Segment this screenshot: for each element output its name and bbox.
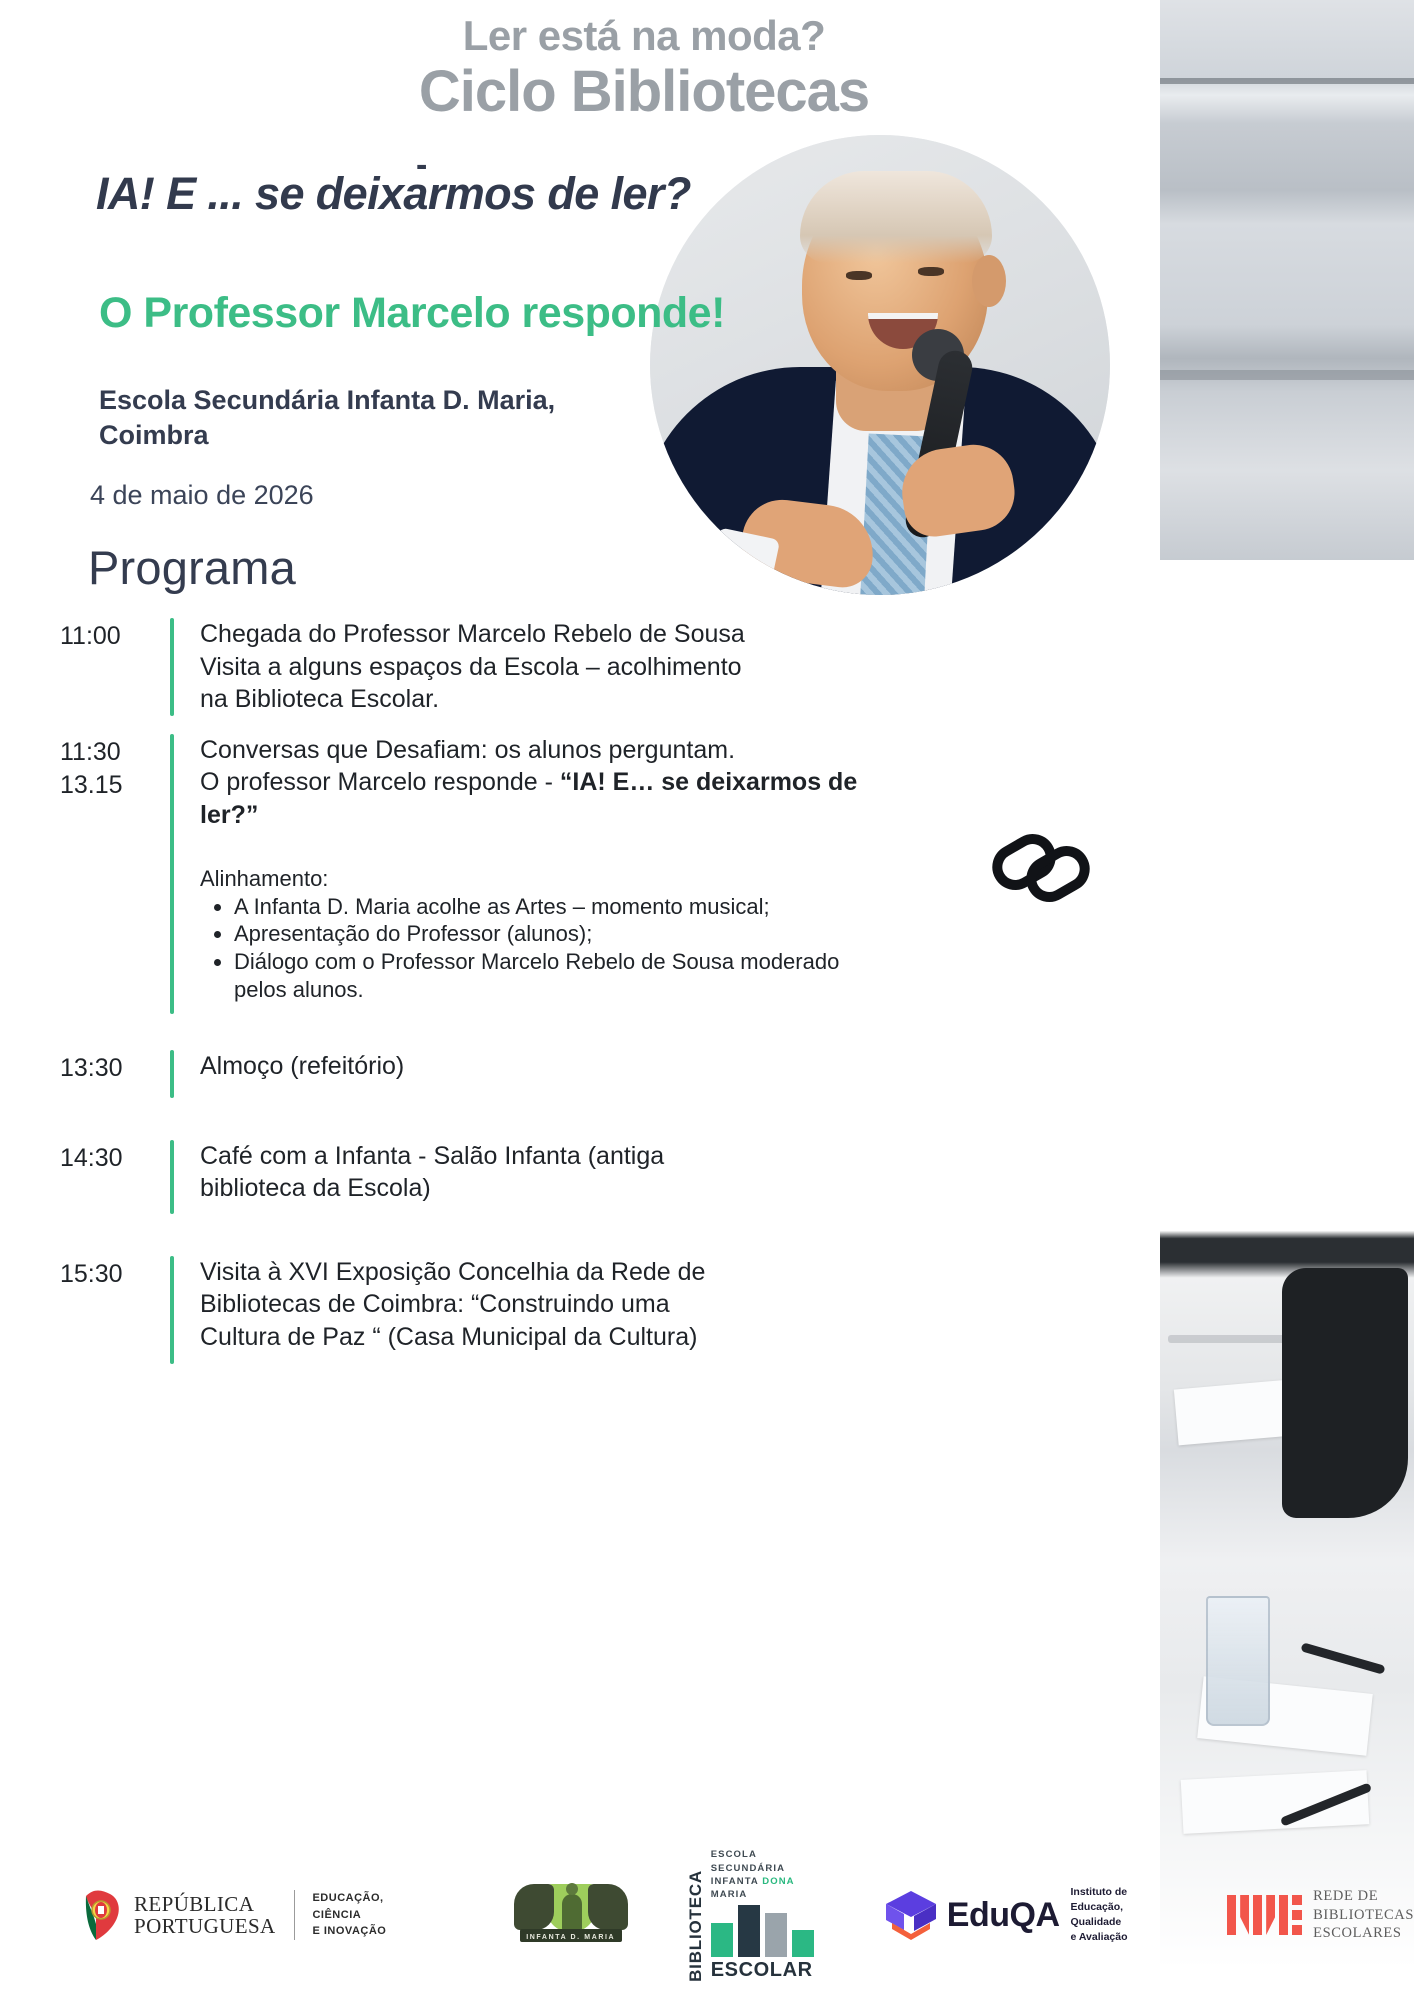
portugal-flag-icon	[84, 1888, 122, 1942]
schedule-time: 13:30	[60, 1050, 170, 1085]
crest-dragon-right	[588, 1884, 628, 1930]
rbe-line-1: REDE DE	[1313, 1887, 1414, 1906]
rbe-mark-icon	[1227, 1895, 1302, 1935]
program-schedule: 11:00 Chegada do Professor Marcelo Rebel…	[60, 618, 890, 1382]
biblioteca-logo-body: ESCOLA SECUNDÁRIA INFANTA DONA MARIA ESC…	[711, 1848, 828, 1981]
rbe-bar	[1253, 1895, 1262, 1935]
venue-line-1: Escola Secundária Infanta D. Maria,	[99, 383, 639, 418]
rbe-line-2: BIBLIOTECAS	[1313, 1906, 1414, 1925]
biblioteca-vertical-word: BIBLIOTECA	[686, 1868, 706, 1982]
eduqa-wordmark: EduQA	[947, 1896, 1060, 1935]
schedule-description: Visita à XVI Exposição Concelhia da Rede…	[200, 1256, 890, 1354]
schedule-line: na Biblioteca Escolar.	[200, 683, 890, 716]
page-title: IA! E ... se deixarmos de ler?	[96, 168, 691, 220]
schedule-description: Almoço (refeitório)	[200, 1050, 890, 1083]
footer-logos: REPÚBLICA PORTUGUESA EDUCAÇÃO, CIÊNCIA E…	[0, 1845, 1414, 1985]
schedule-time: 11:30 13.15	[60, 734, 170, 802]
ministry-line-2: E INOVAÇÃO	[312, 1923, 419, 1940]
rbe-square	[1292, 1925, 1302, 1935]
schedule-row: 11:00 Chegada do Professor Marcelo Rebel…	[60, 618, 890, 716]
schedule-line: Almoço (refeitório)	[200, 1050, 890, 1083]
logo-school-crest: INFANTA D. MARIA	[512, 1880, 630, 1950]
eduqa-tag-line-1: Instituto de	[1071, 1885, 1164, 1900]
list-item: A Infanta D. Maria acolhe as Artes – mom…	[234, 893, 890, 921]
water-glass	[1206, 1596, 1270, 1726]
schedule-line: biblioteca da Escola)	[200, 1172, 890, 1205]
schedule-time: 14:30	[60, 1140, 170, 1175]
portrait-cuff	[706, 527, 780, 595]
portrait-eye	[846, 271, 872, 280]
schedule-time-end: 13.15	[60, 769, 170, 802]
portrait-eye	[918, 267, 944, 276]
rbe-bar	[1266, 1895, 1275, 1935]
list-item: Diálogo com o Professor Marcelo Rebelo d…	[234, 948, 890, 1003]
program-heading: Programa	[88, 540, 296, 595]
schedule-time: 11:00	[60, 618, 170, 653]
venue-line-2: Coimbra	[99, 418, 639, 453]
schedule-divider	[170, 1050, 174, 1098]
logo-republica-portuguesa: REPÚBLICA PORTUGUESA EDUCAÇÃO, CIÊNCIA E…	[84, 1888, 420, 1942]
republica-line-2: PORTUGUESA	[134, 1915, 276, 1937]
schedule-line-with-emphasis: O professor Marcelo responde - “IA! E… s…	[200, 766, 890, 831]
schedule-description: Café com a Infanta - Salão Infanta (anti…	[200, 1140, 890, 1205]
name-part-3: MARIA	[711, 1889, 748, 1900]
logo-divider	[294, 1890, 295, 1940]
schedule-time: 15:30	[60, 1256, 170, 1291]
schedule-line: Visita à XVI Exposição Concelhia da Rede…	[200, 1256, 890, 1289]
crest-label: INFANTA D. MARIA	[512, 1934, 630, 1941]
biblioteca-name-line-2: INFANTA DONA MARIA	[711, 1875, 828, 1902]
name-part-dona: DONA	[762, 1876, 794, 1887]
speaker-portrait	[650, 135, 1110, 595]
schedule-line: Visita a alguns espaços da Escola – acol…	[200, 651, 890, 684]
republica-wordmark: REPÚBLICA PORTUGUESA	[134, 1893, 276, 1938]
crest-dragon-left	[514, 1884, 554, 1930]
school-crest-icon: INFANTA D. MARIA	[512, 1880, 630, 1950]
poster-canvas: Ler está na moda? Ciclo Bibliotecas - IA…	[0, 0, 1414, 2000]
venue-block: Escola Secundária Infanta D. Maria, Coim…	[99, 383, 639, 452]
eduqa-tagline: Instituto de Educação, Qualidade e Avali…	[1071, 1885, 1164, 1946]
alinhamento-list: A Infanta D. Maria acolhe as Artes – mom…	[200, 893, 890, 1004]
portrait-hair	[800, 171, 992, 263]
bar-4	[792, 1930, 814, 1957]
logo-rede-bibliotecas-escolares: REDE DE BIBLIOTECAS ESCOLARES	[1227, 1887, 1414, 1943]
schedule-divider	[170, 618, 174, 716]
right-photo-band	[1160, 0, 1414, 2000]
logo-biblioteca-escolar: BIBLIOTECA ESCOLA SECUNDÁRIA INFANTA DON…	[686, 1848, 828, 1981]
name-part-1: INFANTA	[711, 1876, 763, 1887]
bar-2	[738, 1905, 760, 1957]
rbe-square	[1292, 1910, 1302, 1920]
schedule-line-prefix: O professor Marcelo responde -	[200, 768, 560, 796]
rbe-squares	[1292, 1895, 1302, 1935]
schedule-row: 15:30 Visita à XVI Exposição Concelhia d…	[60, 1256, 890, 1364]
schedule-line: Conversas que Desafiam: os alunos pergun…	[200, 734, 890, 767]
rbe-line-3: ESCOLARES	[1313, 1924, 1414, 1943]
event-date: 4 de maio de 2026	[90, 480, 314, 511]
schedule-divider	[170, 734, 174, 1014]
rbe-bar	[1240, 1895, 1249, 1935]
schedule-line: Chegada do Professor Marcelo Rebelo de S…	[200, 618, 890, 651]
schedule-divider	[170, 1140, 174, 1214]
schedule-row: 11:30 13.15 Conversas que Desafiam: os a…	[60, 734, 890, 1014]
republica-line-1: REPÚBLICA	[134, 1893, 276, 1915]
list-item: Apresentação do Professor (alunos);	[234, 920, 890, 948]
eduqa-tag-line-3: e Avaliação	[1071, 1930, 1164, 1945]
photo-gap	[1160, 560, 1414, 1220]
schedule-time-start: 11:30	[60, 736, 170, 769]
schedule-row: 14:30 Café com a Infanta - Salão Infanta…	[60, 1140, 890, 1214]
alinhamento-label: Alinhamento:	[200, 865, 890, 893]
biblioteca-name-line-1: ESCOLA SECUNDÁRIA	[711, 1848, 828, 1875]
alinhamento-block: Alinhamento: A Infanta D. Maria acolhe a…	[200, 865, 890, 1004]
schedule-description: Conversas que Desafiam: os alunos pergun…	[200, 734, 890, 1004]
crest-figure	[562, 1894, 582, 1934]
rbe-wordmark: REDE DE BIBLIOTECAS ESCOLARES	[1313, 1887, 1414, 1943]
chair	[1282, 1268, 1408, 1518]
bar-1	[711, 1923, 733, 1957]
rbe-square	[1292, 1895, 1302, 1905]
ministry-tagline: EDUCAÇÃO, CIÊNCIA E INOVAÇÃO	[312, 1890, 419, 1940]
poster-series-title: Ciclo Bibliotecas	[0, 58, 1414, 125]
schedule-line: Café com a Infanta - Salão Infanta (anti…	[200, 1140, 890, 1173]
escolar-word: ESCOLAR	[711, 1959, 828, 1982]
ministry-line-1: EDUCAÇÃO, CIÊNCIA	[312, 1890, 419, 1923]
schedule-line: Cultura de Paz “ (Casa Municipal da Cult…	[200, 1321, 890, 1354]
eduqa-tag-line-2: Educação, Qualidade	[1071, 1900, 1164, 1930]
biblioteca-school-name: ESCOLA SECUNDÁRIA INFANTA DONA MARIA	[711, 1848, 828, 1901]
schedule-divider	[170, 1256, 174, 1364]
rbe-bar	[1227, 1895, 1236, 1935]
bar-3	[765, 1913, 787, 1957]
schedule-row: 13:30 Almoço (refeitório)	[60, 1050, 890, 1098]
schedule-description: Chegada do Professor Marcelo Rebelo de S…	[200, 618, 890, 716]
schedule-line: Bibliotecas de Coimbra: “Construindo uma	[200, 1288, 890, 1321]
biblioteca-bar-icon	[711, 1905, 828, 1957]
eduqa-book-icon	[884, 1889, 938, 1941]
poster-kicker: Ler está na moda?	[0, 12, 1414, 60]
page-subtitle: O Professor Marcelo responde!	[99, 289, 725, 338]
rbe-bar	[1279, 1895, 1288, 1935]
logo-eduqa: EduQA Instituto de Educação, Qualidade e…	[884, 1885, 1163, 1946]
link-chain-icon[interactable]	[988, 818, 1094, 918]
portrait-ear	[972, 255, 1006, 307]
